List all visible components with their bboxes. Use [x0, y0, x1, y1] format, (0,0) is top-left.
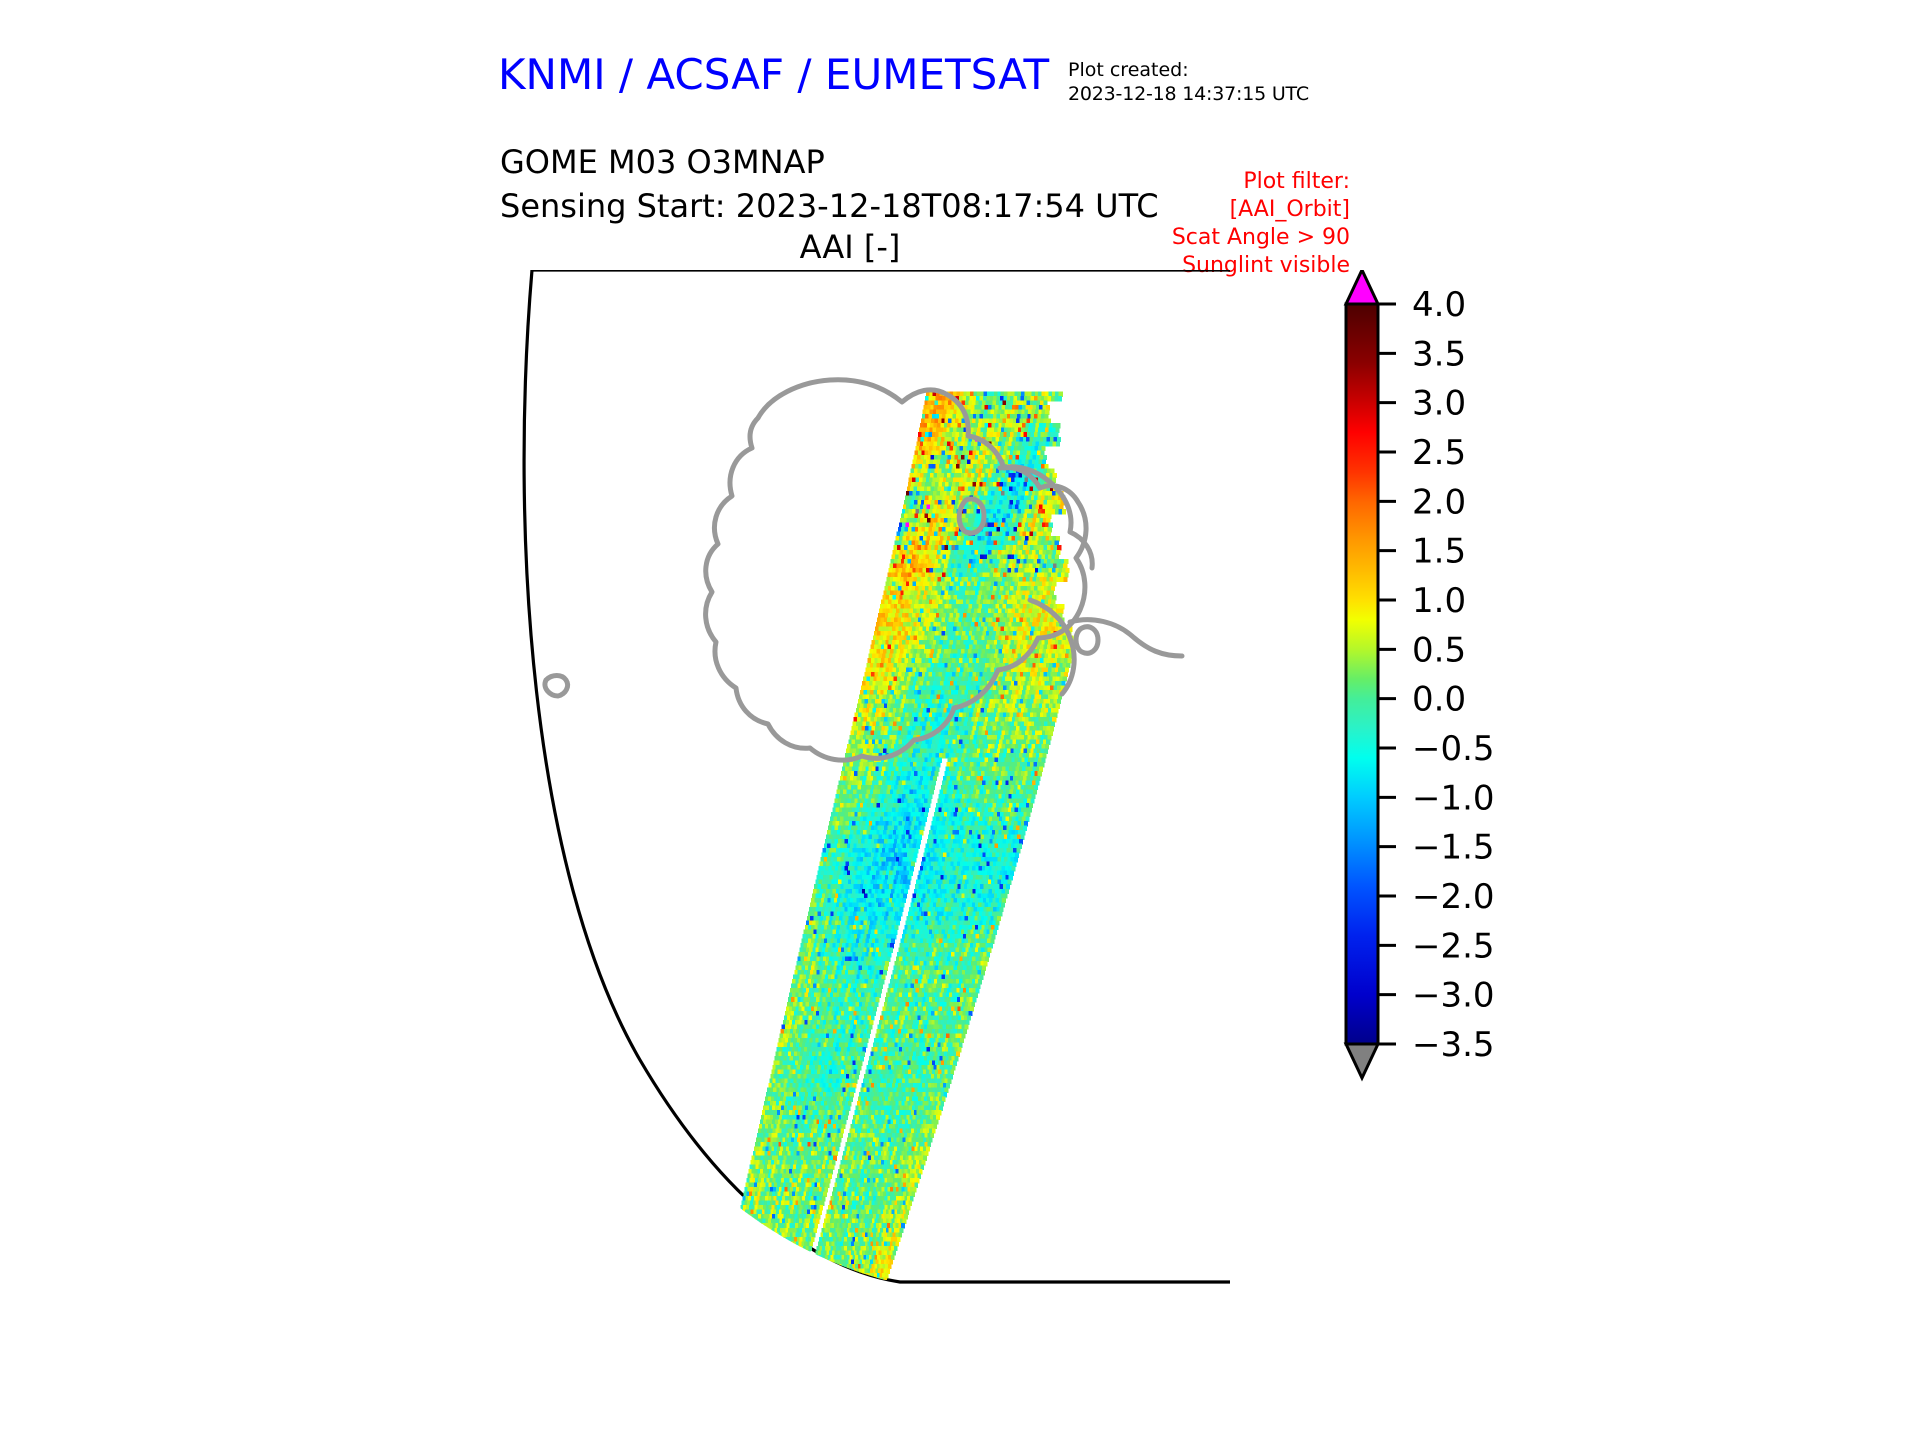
title-block: GOME M03 O3MNAP Sensing Start: 2023-12-1…: [500, 140, 1159, 228]
colorbar-tick-label: 0.5: [1412, 630, 1466, 670]
plot-filter-label: Plot filter:: [1100, 168, 1350, 196]
colorbar-ticks: 4.03.53.02.52.01.51.00.50.0−0.5−1.0−1.5−…: [1378, 285, 1495, 1065]
colorbar-tick-label: −0.5: [1412, 729, 1495, 769]
colorbar-tick-label: 1.0: [1412, 581, 1466, 621]
coastline-small-island: [545, 676, 568, 697]
data-swath: [724, 392, 1074, 1283]
colorbar-tick-label: −3.0: [1412, 976, 1495, 1016]
plot-filter-scat-angle: Scat Angle > 90: [1100, 224, 1350, 252]
plot-filter-block: Plot filter: [AAI_Orbit] Scat Angle > 90…: [1100, 168, 1350, 280]
colorbar-gradient: [1346, 304, 1378, 1044]
plot-created-label: Plot created:: [1068, 58, 1238, 82]
colorbar-tick-label: −2.0: [1412, 877, 1495, 917]
colorbar-tick-label: 0.0: [1412, 680, 1466, 720]
colorbar-tick-label: 2.5: [1412, 433, 1466, 473]
plot-filter-product: [AAI_Orbit]: [1100, 196, 1350, 224]
colorbar-tick-label: 1.5: [1412, 532, 1466, 572]
quantity-title: AAI [-]: [500, 228, 1200, 266]
colorbar-tick-label: 4.0: [1412, 285, 1466, 325]
colorbar-svg: 4.03.53.02.52.01.51.00.50.0−0.5−1.0−1.5−…: [1330, 270, 1590, 1310]
colorbar-tick-label: 3.5: [1412, 334, 1466, 374]
colorbar-tick-label: 3.0: [1412, 384, 1466, 424]
colorbar-tick-label: −3.5: [1412, 1025, 1495, 1065]
colorbar-under-arrow: [1346, 1044, 1378, 1078]
colorbar-over-arrow: [1346, 270, 1378, 304]
plot-created-block: Plot created: 2023-12-18 14:37:15 UTC: [1068, 58, 1238, 106]
map-panel: [470, 270, 1330, 1290]
colorbar-tick-label: −1.5: [1412, 828, 1495, 868]
instrument-title: GOME M03 O3MNAP: [500, 140, 1159, 184]
colorbar-tick-label: −1.0: [1412, 778, 1495, 818]
colorbar-tick-label: −2.5: [1412, 926, 1495, 966]
plot-canvas: KNMI / ACSAF / EUMETSAT Plot created: 20…: [0, 0, 1920, 1440]
organization-title: KNMI / ACSAF / EUMETSAT: [498, 50, 1049, 99]
plot-created-timestamp: 2023-12-18 14:37:15 UTC: [1068, 82, 1238, 106]
colorbar-tick-label: 2.0: [1412, 482, 1466, 522]
coastline-offshore-island: [1076, 627, 1098, 654]
map-svg: [470, 270, 1330, 1290]
sensing-start-title: Sensing Start: 2023-12-18T08:17:54 UTC: [500, 184, 1159, 228]
colorbar-panel: 4.03.53.02.52.01.51.00.50.0−0.5−1.0−1.5−…: [1330, 270, 1590, 1310]
